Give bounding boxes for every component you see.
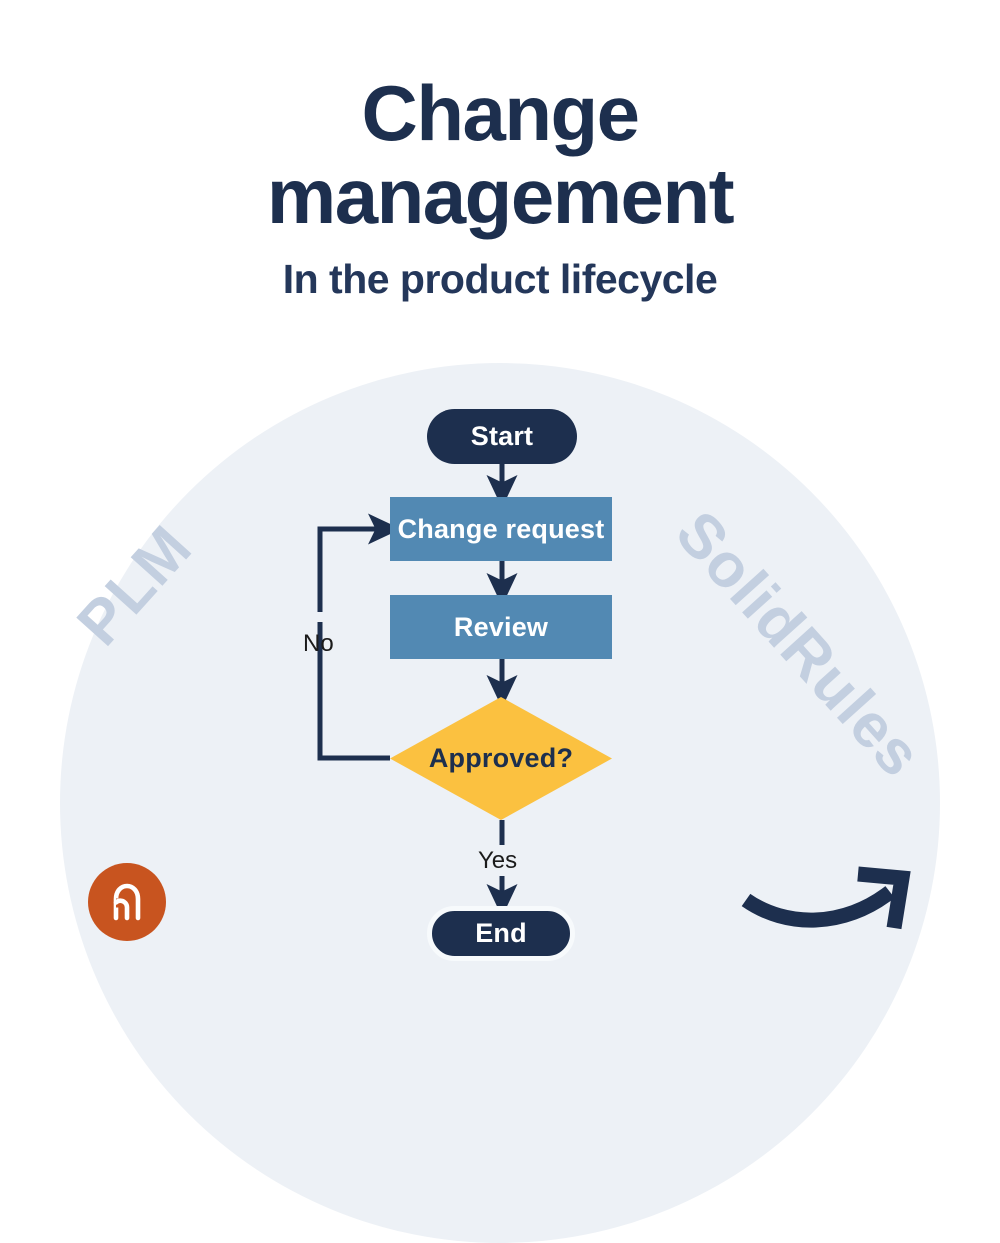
page-subtitle: In the product lifecycle: [0, 257, 1000, 302]
edge-label-no: No: [303, 630, 334, 658]
flow-node-end-label: End: [475, 920, 527, 947]
flow-node-change-request-label: Change request: [398, 516, 605, 543]
curved-arrow-right-icon: [740, 866, 925, 966]
page-title: Change management: [180, 72, 820, 237]
flow-node-start[interactable]: Start: [427, 409, 577, 464]
flow-node-end[interactable]: End: [427, 906, 575, 961]
flow-node-approved-decision[interactable]: Approved?: [390, 697, 612, 820]
flow-node-approved-label: Approved?: [429, 745, 573, 772]
flow-node-review[interactable]: Review: [390, 595, 612, 659]
edge-label-yes: Yes: [478, 847, 517, 875]
page-title-line-2: management: [267, 152, 733, 240]
flow-node-start-label: Start: [471, 423, 534, 450]
solidrules-a-logo-icon: [103, 878, 151, 926]
infographic-canvas: Change management In the product lifecyc…: [0, 0, 1000, 1000]
page-title-line-1: Change: [361, 69, 638, 157]
flow-node-change-request[interactable]: Change request: [390, 497, 612, 561]
flow-node-review-label: Review: [454, 614, 548, 641]
brand-logo-badge[interactable]: [88, 863, 166, 941]
header: Change management In the product lifecyc…: [0, 72, 1000, 302]
